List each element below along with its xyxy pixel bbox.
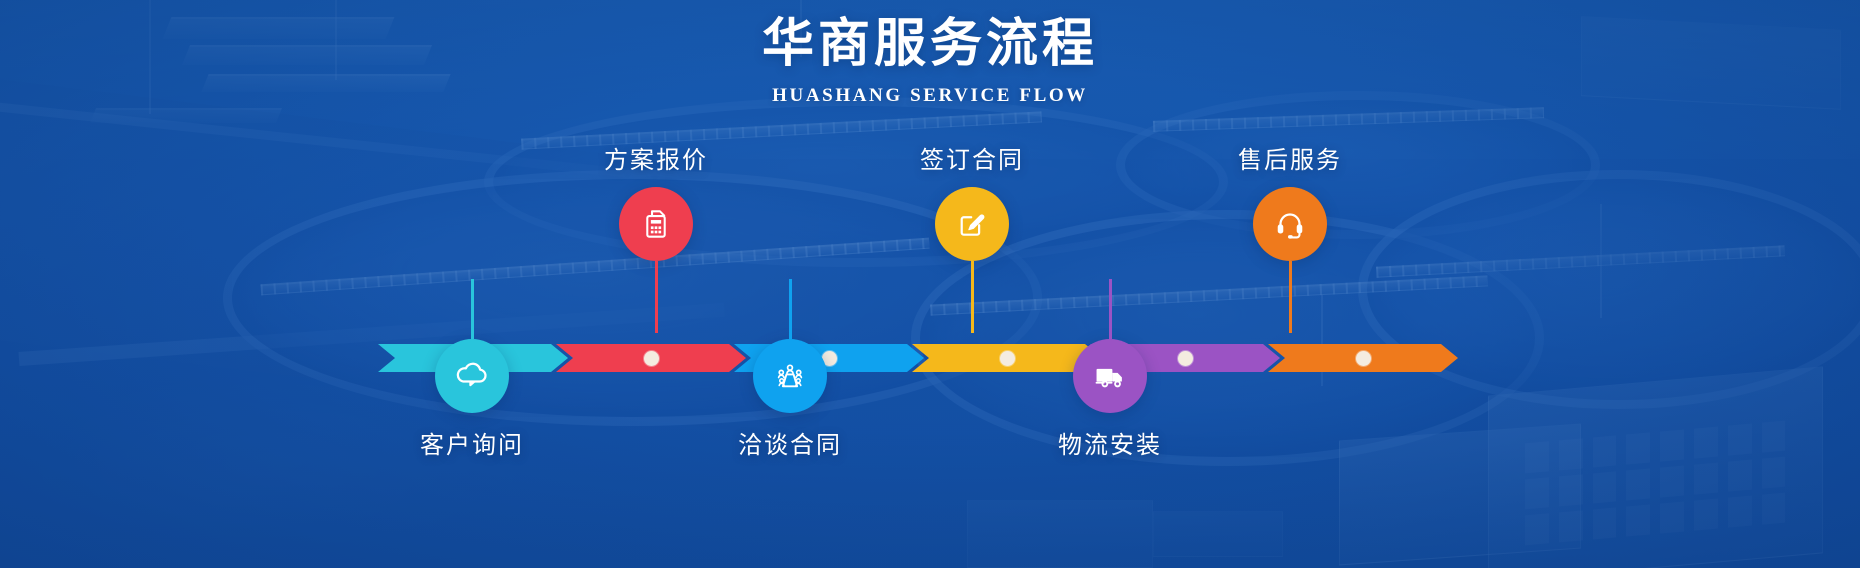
flow-stem [1109, 279, 1112, 339]
flow-step-3-label: 洽谈合同 [680, 425, 900, 460]
flow-step-1-icon-circle[interactable] [435, 339, 509, 413]
flow-step-1[interactable]: 客户询问 [362, 339, 582, 460]
flow-chevron-6[interactable] [1268, 344, 1458, 372]
flow-step-4-label: 签订合同 [862, 140, 1082, 175]
calculator-quote-icon [637, 205, 675, 243]
meeting-table-icon [771, 357, 809, 395]
flow-step-3-icon-circle[interactable] [753, 339, 827, 413]
flow-step-2[interactable]: 方案报价 [546, 140, 766, 261]
flow-stem [655, 261, 658, 333]
flow-step-6-label: 售后服务 [1180, 140, 1400, 175]
flow-step-6[interactable]: 售后服务 [1180, 140, 1400, 261]
flow-step-1-label: 客户询问 [362, 425, 582, 460]
flow-step-5-label: 物流安装 [1000, 425, 1220, 460]
service-flow-banner: 华商服务流程 HUASHANG SERVICE FLOW [0, 0, 1860, 568]
flow-stem [1289, 261, 1292, 333]
pen-sign-icon [953, 205, 991, 243]
flow-step-6-icon-circle[interactable] [1253, 187, 1327, 261]
flow-stem [789, 279, 792, 339]
headset-support-icon [1271, 205, 1309, 243]
flow-stem [971, 261, 974, 333]
flow-step-2-icon-circle[interactable] [619, 187, 693, 261]
flow-step-3[interactable]: 洽谈合同 [680, 339, 900, 460]
flow-node-dot [1356, 351, 1371, 366]
flow-node-dot [644, 351, 659, 366]
flow-step-5-icon-circle[interactable] [1073, 339, 1147, 413]
flow-step-4[interactable]: 签订合同 [862, 140, 1082, 261]
flow-stem [471, 279, 474, 339]
cloud-chat-icon [453, 357, 491, 395]
flow-step-2-label: 方案报价 [546, 140, 766, 175]
flow-step-5[interactable]: 物流安装 [1000, 339, 1220, 460]
flow-step-4-icon-circle[interactable] [935, 187, 1009, 261]
delivery-truck-icon [1091, 357, 1129, 395]
service-flow-diagram: 客户询问 方案报价 [0, 0, 1860, 568]
